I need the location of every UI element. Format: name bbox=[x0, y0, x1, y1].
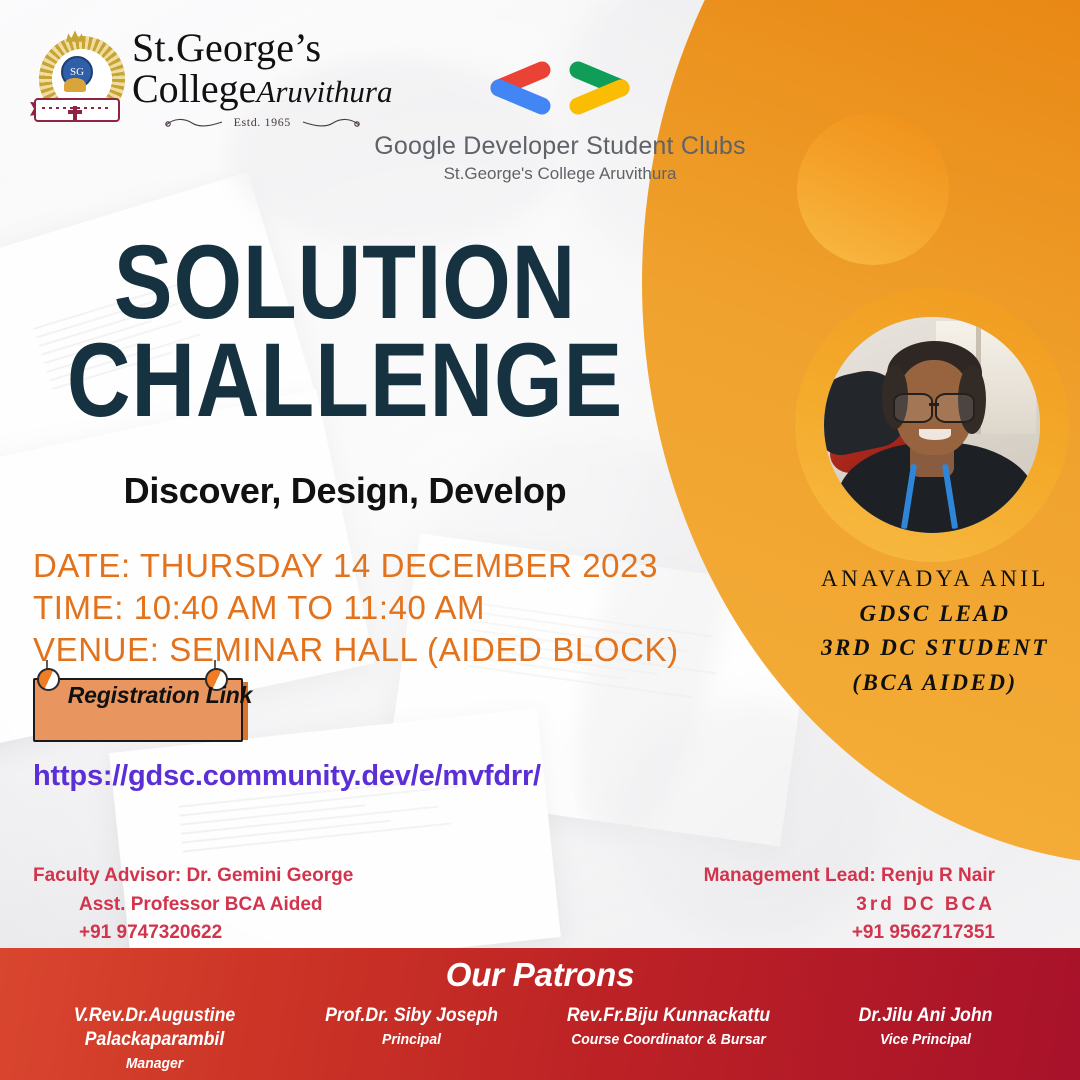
patron-role: Vice Principal bbox=[806, 1030, 1045, 1050]
gdsc-title: Google Developer Student Clubs bbox=[340, 132, 780, 161]
lead-course: (BCA AIDED) bbox=[790, 666, 1080, 701]
registration-sign-label: Registration Link bbox=[30, 682, 290, 709]
patrons-footer: Our Patrons V.Rev.Dr.Augustine Palackapa… bbox=[0, 948, 1080, 1080]
college-estd: Estd. 1965 bbox=[234, 115, 291, 130]
patrons-list: V.Rev.Dr.Augustine Palackaparambil Manag… bbox=[0, 994, 1080, 1073]
patron-role: Manager bbox=[35, 1054, 274, 1074]
lead-year: 3RD DC STUDENT bbox=[790, 631, 1080, 666]
patron-item: Prof.Dr. Siby Joseph Principal bbox=[283, 1004, 540, 1049]
patron-item: Dr.Jilu Ani John Vice Principal bbox=[797, 1004, 1054, 1049]
management-lead-course: 3rd DC BCA bbox=[704, 891, 995, 920]
faculty-advisor-phone: +91 9747320622 bbox=[33, 919, 353, 948]
flourish-left-icon bbox=[164, 117, 226, 128]
patron-name: V.Rev.Dr.Augustine Palackaparambil bbox=[35, 1004, 274, 1052]
patron-name: Rev.Fr.Biju Kunnackattu bbox=[549, 1004, 788, 1028]
lead-name: ANAVADYA ANIL bbox=[790, 562, 1080, 597]
poster-tagline: Discover, Design, Develop bbox=[0, 470, 690, 512]
college-name-line2: College bbox=[132, 66, 256, 111]
lead-avatar bbox=[824, 317, 1040, 533]
lead-photo-ring bbox=[795, 288, 1069, 562]
patron-role: Course Coordinator & Bursar bbox=[549, 1030, 788, 1050]
patron-name: Dr.Jilu Ani John bbox=[806, 1004, 1045, 1028]
patrons-title: Our Patrons bbox=[0, 948, 1080, 994]
college-crest-icon bbox=[32, 30, 118, 126]
registration-sign[interactable]: Registration Link bbox=[30, 660, 290, 760]
registration-url-link[interactable]: https://gdsc.community.dev/e/mvfdrr/ bbox=[33, 760, 541, 793]
management-lead-contact: Management Lead: Renju R Nair 3rd DC BCA… bbox=[704, 862, 995, 948]
gdsc-chevrons-icon bbox=[340, 60, 780, 116]
faculty-advisor-designation: Asst. Professor BCA Aided bbox=[33, 891, 353, 920]
poster-canvas: St.George’s CollegeAruvithura Estd. 1965 bbox=[0, 0, 1080, 1080]
title-line-1: SOLUTION bbox=[55, 234, 635, 332]
patron-item: V.Rev.Dr.Augustine Palackaparambil Manag… bbox=[26, 1004, 283, 1073]
management-lead-phone: +91 9562717351 bbox=[704, 919, 995, 948]
patron-item: Rev.Fr.Biju Kunnackattu Course Coordinat… bbox=[540, 1004, 797, 1049]
gdsc-left-chevron-icon bbox=[479, 60, 555, 116]
college-logo: St.George’s CollegeAruvithura Estd. 1965 bbox=[32, 26, 392, 130]
event-details: DATE: THURSDAY 14 DECEMBER 2023 TIME: 10… bbox=[33, 545, 679, 672]
gdsc-logo: Google Developer Student Clubs St.George… bbox=[340, 60, 780, 184]
patron-name: Prof.Dr. Siby Joseph bbox=[292, 1004, 531, 1028]
faculty-advisor-name: Faculty Advisor: Dr. Gemini George bbox=[33, 862, 353, 891]
faculty-advisor-contact: Faculty Advisor: Dr. Gemini George Asst.… bbox=[33, 862, 353, 948]
management-lead-name: Management Lead: Renju R Nair bbox=[704, 862, 995, 891]
lead-role: GDSC LEAD bbox=[790, 597, 1080, 632]
lead-info: ANAVADYA ANIL GDSC LEAD 3RD DC STUDENT (… bbox=[790, 562, 1080, 700]
title-line-2: CHALLENGE bbox=[55, 332, 635, 430]
poster-title: SOLUTION CHALLENGE bbox=[0, 234, 690, 429]
patron-role: Principal bbox=[292, 1030, 531, 1050]
orange-accent-circle bbox=[797, 113, 949, 265]
event-date: DATE: THURSDAY 14 DECEMBER 2023 bbox=[33, 545, 679, 587]
gdsc-right-chevron-icon bbox=[565, 60, 641, 116]
gdsc-subtitle: St.George's College Aruvithura bbox=[340, 164, 780, 184]
event-time: TIME: 10:40 AM TO 11:40 AM bbox=[33, 587, 679, 629]
